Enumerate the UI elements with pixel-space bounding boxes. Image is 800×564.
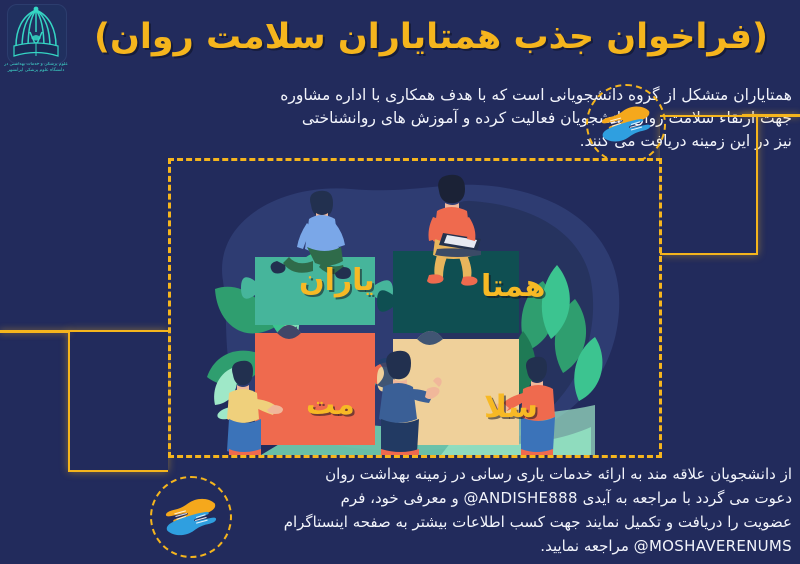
puzzle-teamwork-illustration (171, 161, 659, 455)
helping-hands-icon-top (586, 84, 666, 164)
page-title: (فراخوان جذب همتایاران سلامت روان) (70, 6, 792, 68)
decorative-bracket-right-stub (742, 114, 800, 117)
outro-line-1: از دانشجویان علاقه مند به ارائه خدمات یا… (142, 462, 792, 486)
decorative-bracket-left (68, 330, 168, 472)
university-logo: علوم پزشکی و خدمات بهداشتی درمانی دانشگا… (4, 2, 68, 80)
poster-canvas: علوم پزشکی و خدمات بهداشتی درمانی دانشگا… (0, 0, 800, 564)
logo-caption-line-2: دانشگاه علوم پزشکی ایرانشهر (4, 68, 68, 74)
outro-paragraph: از دانشجویان علاقه مند به ارائه خدمات یا… (142, 462, 792, 558)
outro-line-3: عضویت را دریافت و تکمیل نمایند جهت کسب ا… (142, 510, 792, 534)
helping-hands-glyph (597, 101, 655, 147)
illustration-frame: یاران همتا مت سلا (168, 158, 662, 458)
logo-emblem-icon (4, 2, 68, 66)
logo-caption: علوم پزشکی و خدمات بهداشتی درمانی دانشگا… (4, 62, 68, 74)
decorative-bracket-right (660, 115, 758, 255)
outro-line-2-part-a: دعوت می گردد با مراجعه به آیدی (583, 489, 792, 507)
instagram-handle: @MOSHAVERENUMS (634, 537, 792, 555)
decorative-bracket-left-stub (0, 330, 70, 333)
illustration-artwork (171, 161, 659, 455)
telegram-handle: @ANDISHE888 (463, 489, 577, 507)
outro-line-2-part-b: و معرفی خود، فرم (341, 489, 459, 507)
intro-line-1: همتایاران متشکل از گروه دانشجویانی است ک… (152, 84, 792, 107)
outro-line-4-part-b: مراجعه نمایید. (540, 537, 629, 555)
outro-line-2: دعوت می گردد با مراجعه به آیدی @ANDISHE8… (142, 486, 792, 510)
outro-line-4: @MOSHAVERENUMS مراجعه نمایید. (142, 534, 792, 558)
